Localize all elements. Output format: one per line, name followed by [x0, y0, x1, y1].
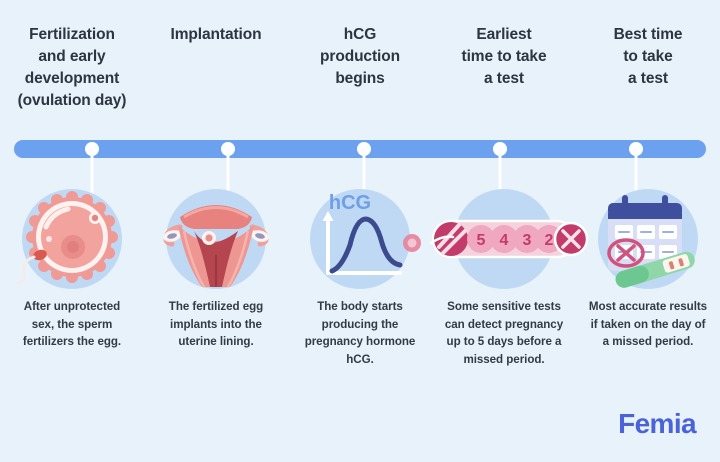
femia-logo: Femia	[618, 408, 696, 440]
icon-circle-background	[166, 189, 266, 289]
illustration-cell-3: hCG	[288, 186, 432, 292]
timeline	[0, 140, 720, 162]
headings-row: Fertilization and early development (ovu…	[0, 24, 720, 132]
step-heading-2: Implantation	[144, 24, 288, 132]
step-heading-3: hCG production begins	[288, 24, 432, 132]
step-caption-text: The body starts producing the pregnancy …	[300, 298, 420, 368]
countdown-day-label: 5	[477, 232, 486, 249]
illustration-cell-5	[576, 186, 720, 292]
step-heading-4: Earliest time to take a test	[432, 24, 576, 132]
step-heading-5: Best time to take a test	[576, 24, 720, 132]
step-heading-text: Fertilization and early development (ovu…	[18, 24, 127, 112]
illustration-cell-2	[144, 186, 288, 292]
illustration-cell-4: 5 4 3 2	[432, 186, 576, 292]
fertilized-egg-icon	[16, 187, 128, 291]
calendar-with-test-icon	[590, 187, 706, 291]
icon-circle-background: hCG	[310, 189, 410, 289]
step-heading-text: Earliest time to take a test	[462, 24, 547, 90]
timeline-dot-3	[357, 142, 371, 156]
step-heading-text: Best time to take a test	[614, 24, 683, 90]
countdown-days-icon: 5 4 3 2	[429, 187, 579, 291]
countdown-day-label: 4	[500, 232, 509, 249]
timeline-dot-5	[629, 142, 643, 156]
step-caption-text: The fertilized egg implants into the ute…	[156, 298, 276, 351]
step-caption-text: Some sensitive tests can detect pregnanc…	[444, 298, 564, 368]
step-caption-text: After unprotected sex, the sperm fertili…	[12, 298, 132, 351]
pregnancy-test-timeline-infographic: Fertilization and early development (ovu…	[0, 0, 720, 462]
step-caption-3: The body starts producing the pregnancy …	[288, 298, 432, 394]
countdown-day-label: 3	[523, 232, 532, 249]
uterus-icon	[160, 187, 272, 291]
step-heading-1: Fertilization and early development (ovu…	[0, 24, 144, 132]
countdown-day-label: 2	[545, 232, 554, 249]
captions-row: After unprotected sex, the sperm fertili…	[0, 298, 720, 394]
icon-circle-background: 5 4 3 2	[454, 189, 554, 289]
icon-circle-background	[598, 189, 698, 289]
step-heading-text: hCG production begins	[320, 24, 400, 90]
step-caption-4: Some sensitive tests can detect pregnanc…	[432, 298, 576, 394]
timeline-dot-4	[493, 142, 507, 156]
step-caption-text: Most accurate results if taken on the da…	[588, 298, 708, 351]
step-heading-text: Implantation	[171, 24, 262, 46]
illustrations-row: hCG	[0, 186, 720, 292]
step-caption-1: After unprotected sex, the sperm fertili…	[0, 298, 144, 394]
hcg-curve-chart-icon: hCG	[304, 187, 416, 291]
timeline-dot-2	[221, 142, 235, 156]
icon-circle-background	[22, 189, 122, 289]
step-caption-5: Most accurate results if taken on the da…	[576, 298, 720, 394]
step-caption-2: The fertilized egg implants into the ute…	[144, 298, 288, 394]
timeline-dot-1	[85, 142, 99, 156]
hcg-chart-label: hCG	[329, 192, 371, 214]
illustration-cell-1	[0, 186, 144, 292]
